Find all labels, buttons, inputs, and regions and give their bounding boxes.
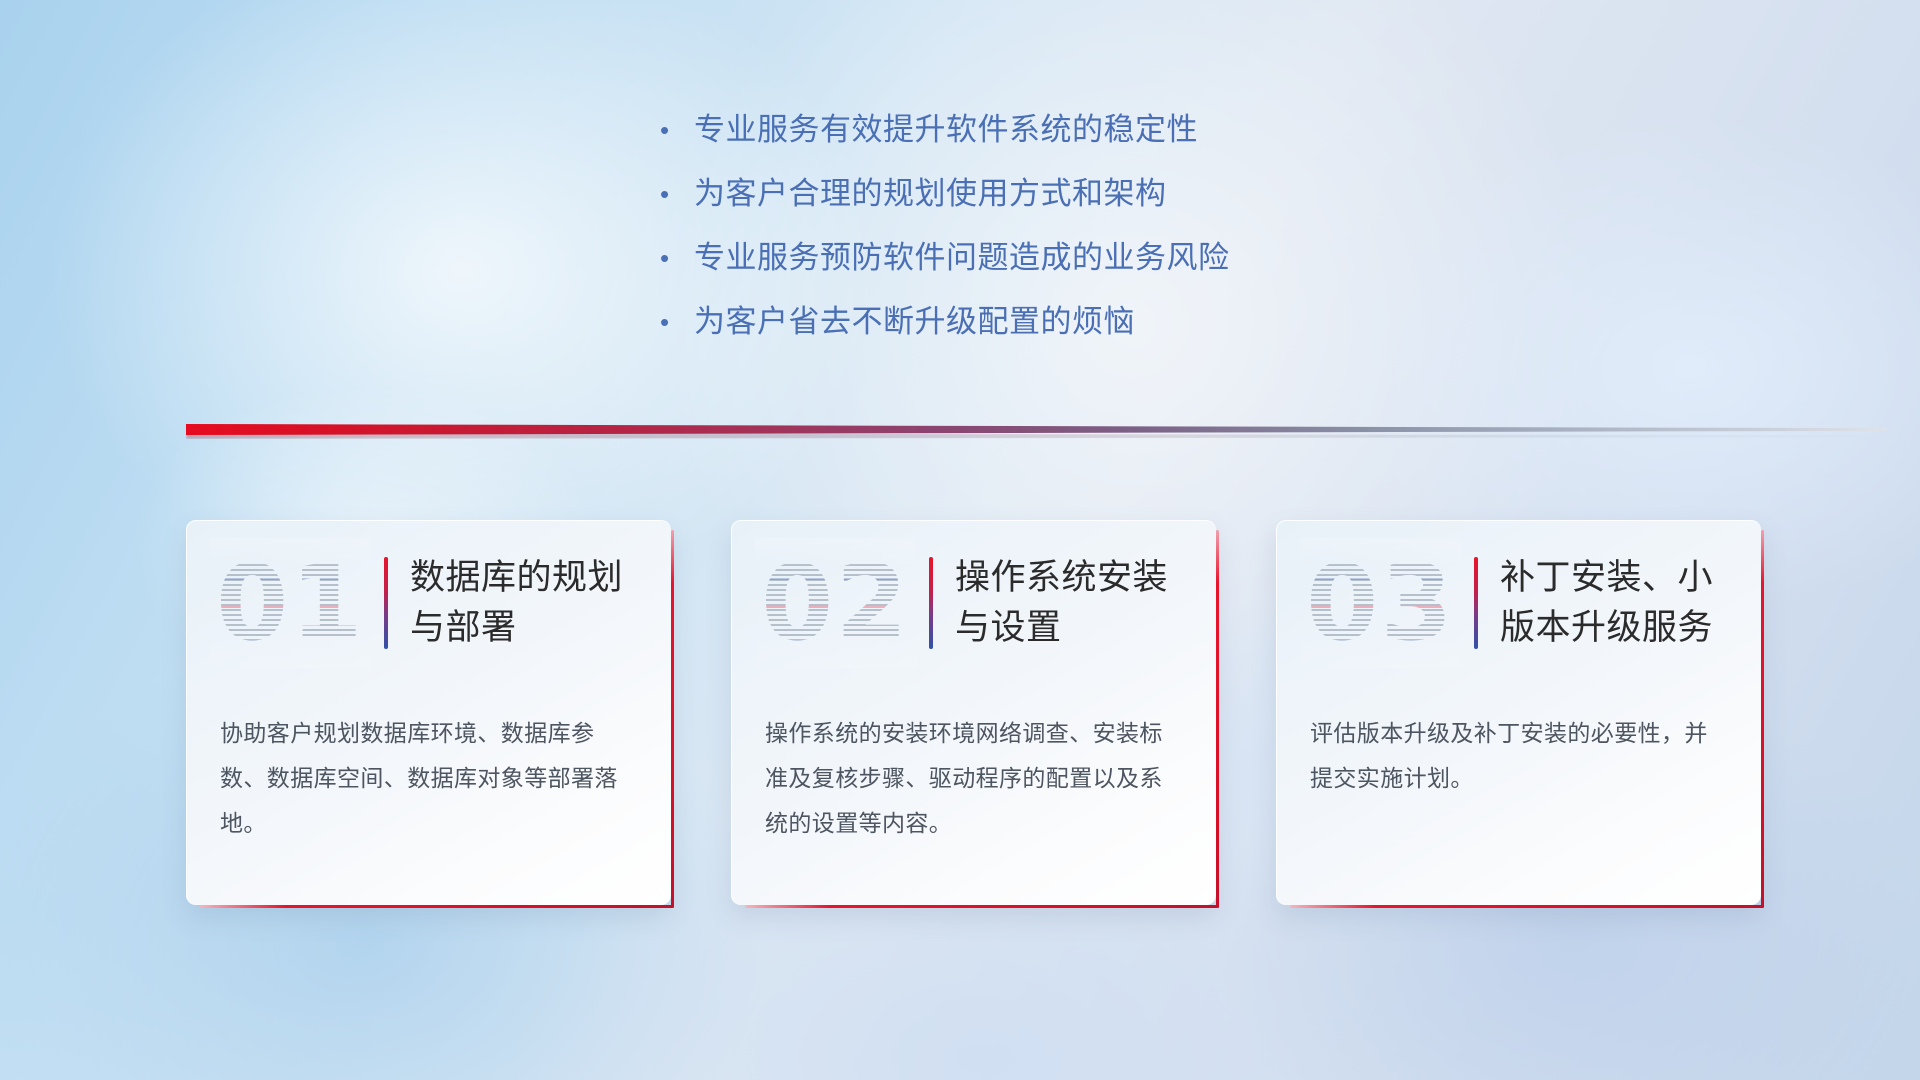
card-number-accent-stripes: 02 (761, 544, 911, 662)
card-accent-bottom (745, 905, 1219, 908)
card-header: 03 03 补丁安装、小版本升级服务 (1276, 520, 1761, 685)
card-title: 补丁安装、小版本升级服务 (1500, 553, 1733, 653)
bullet-item: • 专业服务有效提升软件系统的稳定性 (660, 110, 1420, 174)
card-number-accent-stripes: 01 (216, 544, 366, 662)
card-number-graphic: 01 01 (216, 544, 366, 662)
card-divider-bar (929, 557, 933, 649)
card-header: 02 02 操作系统安装与设置 (731, 520, 1216, 685)
card-divider-bar (1474, 557, 1478, 649)
bullet-dot-icon: • (660, 174, 694, 214)
card-accent-right (671, 530, 674, 908)
benefits-bullet-list: • 专业服务有效提升软件系统的稳定性 • 为客户合理的规划使用方式和架构 • 专… (660, 110, 1420, 366)
card-divider-bar (384, 557, 388, 649)
card-body-text: 评估版本升级及补丁安装的必要性，并提交实施计划。 (1276, 685, 1761, 801)
card-accent-bottom (1290, 905, 1764, 908)
service-card[interactable]: 02 02 操作系统安装与设置 操作系统的安装环境网络调查、安装标准及复核步骤、… (731, 520, 1216, 905)
slide-canvas: • 专业服务有效提升软件系统的稳定性 • 为客户合理的规划使用方式和架构 • 专… (0, 0, 1920, 1080)
service-card[interactable]: 03 03 补丁安装、小版本升级服务 评估版本升级及补丁安装的必要性，并提交实施… (1276, 520, 1761, 905)
card-number-accent-stripes: 03 (1306, 544, 1456, 662)
section-divider (186, 424, 1886, 438)
bullet-dot-icon: • (660, 238, 694, 278)
bullet-item-label: 为客户合理的规划使用方式和架构 (694, 174, 1167, 214)
service-card[interactable]: 01 01 数据库的规划与部署 协助客户规划数据库环境、数据库参数、数据库空间、… (186, 520, 671, 905)
card-number-graphic: 03 03 (1306, 544, 1456, 662)
card-accent-right (1761, 530, 1764, 908)
divider-line (186, 424, 1886, 435)
bullet-item: • 为客户合理的规划使用方式和架构 (660, 174, 1420, 238)
service-card-list: 01 01 数据库的规划与部署 协助客户规划数据库环境、数据库参数、数据库空间、… (186, 520, 1761, 905)
bullet-item-label: 专业服务有效提升软件系统的稳定性 (694, 110, 1198, 150)
card-accent-right (1216, 530, 1219, 908)
card-body-text: 操作系统的安装环境网络调查、安装标准及复核步骤、驱动程序的配置以及系统的设置等内… (731, 685, 1216, 846)
card-title: 数据库的规划与部署 (410, 553, 643, 653)
card-header: 01 01 数据库的规划与部署 (186, 520, 671, 685)
card-title: 操作系统安装与设置 (955, 553, 1188, 653)
card-accent-bottom (200, 905, 674, 908)
card-number-graphic: 02 02 (761, 544, 911, 662)
bullet-item: • 为客户省去不断升级配置的烦恼 (660, 302, 1420, 366)
bullet-item-label: 专业服务预防软件问题造成的业务风险 (694, 238, 1230, 278)
card-body-text: 协助客户规划数据库环境、数据库参数、数据库空间、数据库对象等部署落地。 (186, 685, 671, 846)
bullet-item: • 专业服务预防软件问题造成的业务风险 (660, 238, 1420, 302)
bullet-dot-icon: • (660, 110, 694, 150)
bullet-item-label: 为客户省去不断升级配置的烦恼 (694, 302, 1135, 342)
bullet-dot-icon: • (660, 302, 694, 342)
